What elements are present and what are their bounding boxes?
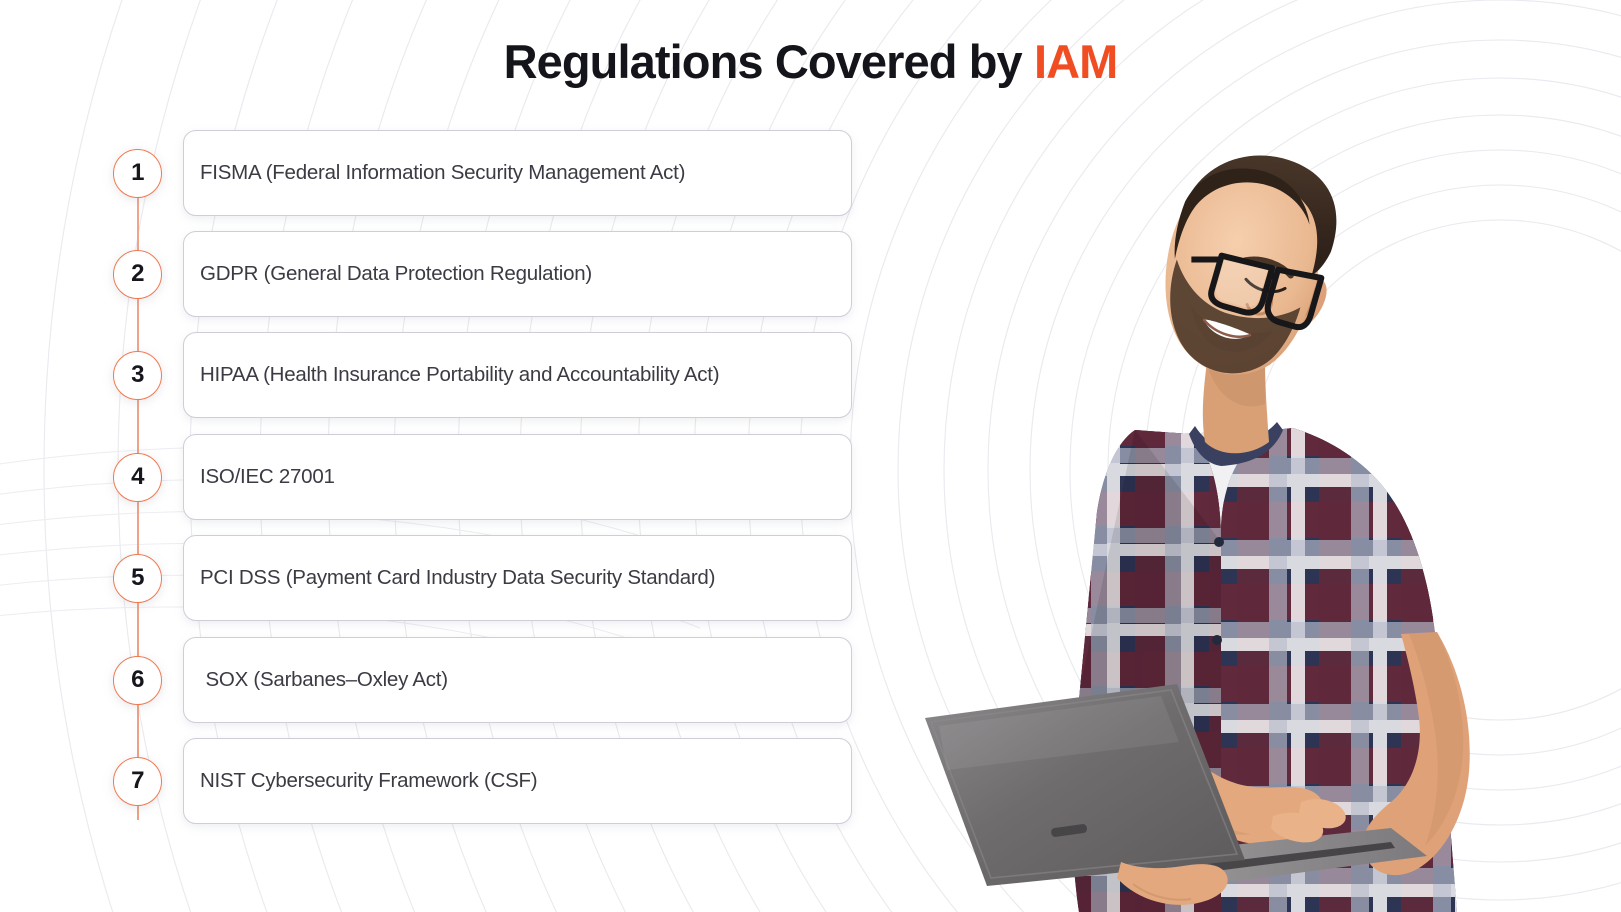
list-item[interactable]: 6 SOX (Sarbanes–Oxley Act)	[112, 637, 852, 723]
step-number-badge: 6	[113, 656, 162, 705]
list-item[interactable]: 4 ISO/IEC 27001	[112, 434, 852, 520]
regulation-card[interactable]: ISO/IEC 27001	[183, 434, 852, 520]
regulation-card[interactable]: SOX (Sarbanes–Oxley Act)	[183, 637, 852, 723]
step-number-badge: 7	[113, 757, 162, 806]
list-item[interactable]: 3 HIPAA (Health Insurance Portability an…	[112, 332, 852, 418]
regulation-card[interactable]: NIST Cybersecurity Framework (CSF)	[183, 738, 852, 824]
page-title: Regulations Covered by IAM	[0, 34, 1621, 89]
man-with-laptop-photo	[921, 112, 1621, 912]
regulation-label: HIPAA (Health Insurance Portability and …	[200, 363, 719, 387]
list-item[interactable]: 5 PCI DSS (Payment Card Industry Data Se…	[112, 535, 852, 621]
regulation-label: NIST Cybersecurity Framework (CSF)	[200, 769, 537, 793]
page-title-main: Regulations Covered by	[504, 35, 1034, 88]
step-number-badge: 4	[113, 453, 162, 502]
regulation-card[interactable]: FISMA (Federal Information Security Mana…	[183, 130, 852, 216]
step-number-badge: 1	[113, 149, 162, 198]
regulation-card[interactable]: HIPAA (Health Insurance Portability and …	[183, 332, 852, 418]
regulation-card[interactable]: GDPR (General Data Protection Regulation…	[183, 231, 852, 317]
regulation-label: GDPR (General Data Protection Regulation…	[200, 262, 592, 286]
step-number-badge: 5	[113, 554, 162, 603]
regulation-label: SOX (Sarbanes–Oxley Act)	[200, 668, 448, 692]
page-title-accent: IAM	[1034, 35, 1117, 88]
regulation-label: FISMA (Federal Information Security Mana…	[200, 161, 685, 185]
regulations-timeline: 1 FISMA (Federal Information Security Ma…	[112, 130, 852, 850]
list-item[interactable]: 2 GDPR (General Data Protection Regulati…	[112, 231, 852, 317]
step-number-badge: 2	[113, 250, 162, 299]
regulation-label: ISO/IEC 27001	[200, 465, 335, 489]
regulation-label: PCI DSS (Payment Card Industry Data Secu…	[200, 566, 715, 590]
list-item[interactable]: 7 NIST Cybersecurity Framework (CSF)	[112, 738, 852, 824]
infographic-canvas: Regulations Covered by IAM 1 FISMA (Fede…	[0, 0, 1621, 912]
step-number-badge: 3	[113, 351, 162, 400]
regulation-card[interactable]: PCI DSS (Payment Card Industry Data Secu…	[183, 535, 852, 621]
list-item[interactable]: 1 FISMA (Federal Information Security Ma…	[112, 130, 852, 216]
